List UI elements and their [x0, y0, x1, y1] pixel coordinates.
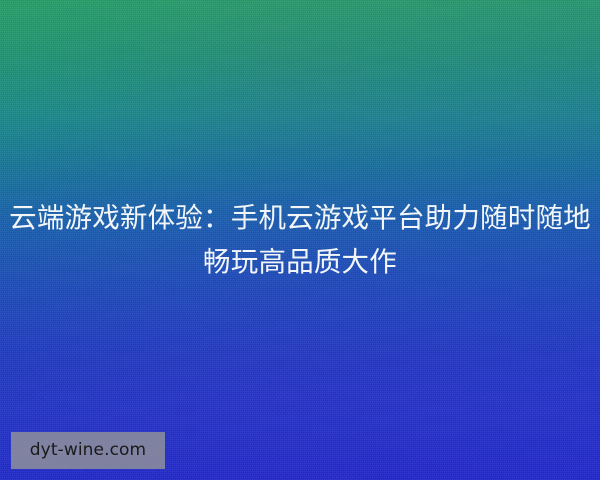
watermark-text: dyt-wine.com [30, 442, 146, 459]
page-title: 云端游戏新体验：手机云游戏平台助力随时随地畅玩高品质大作 [0, 196, 600, 284]
promo-banner: 云端游戏新体验：手机云游戏平台助力随时随地畅玩高品质大作 dyt-wine.co… [0, 0, 600, 480]
watermark-badge: dyt-wine.com [11, 432, 165, 469]
